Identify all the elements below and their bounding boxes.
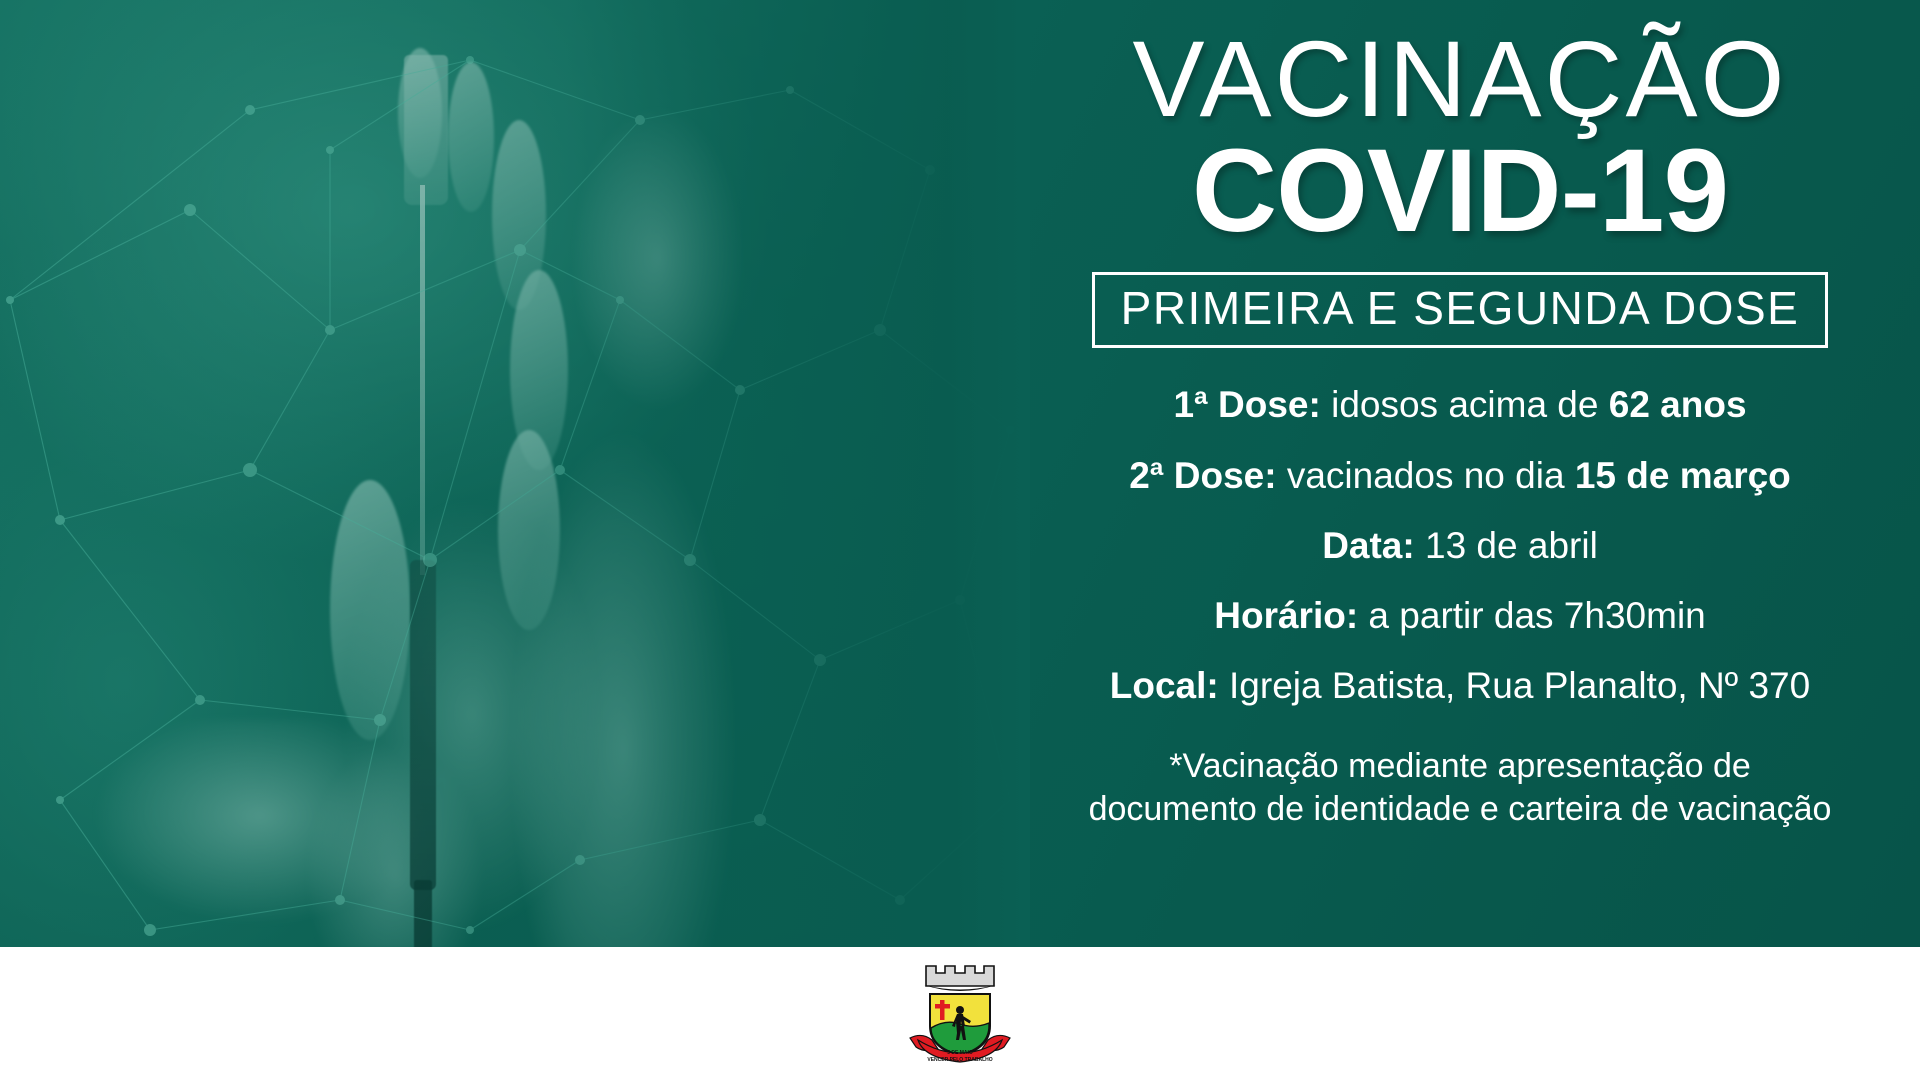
info-text-local: Igreja Batista, Rua Planalto, Nº 370 [1219, 665, 1810, 706]
info-line-dose2: 2ª Dose: vacinados no dia 15 de março [1000, 453, 1920, 498]
footnote-line-2: documento de identidade e carteira de va… [1089, 788, 1832, 831]
page-subtitle: COVID-19 [1192, 132, 1728, 250]
info-label-data: Data: [1322, 525, 1415, 566]
shield-shape [930, 994, 990, 1056]
info-text-horario: a partir das 7h30min [1358, 595, 1706, 636]
info-list: 1ª Dose: idosos acima de 62 anos 2ª Dose… [1000, 382, 1920, 733]
municipal-coat-of-arms-icon: 5 DE MAIO VENCER PELO TRABALHO [896, 954, 1024, 1074]
vaccination-photo [0, 0, 1030, 947]
info-line-data: Data: 13 de abril [1000, 523, 1920, 568]
info-label-dose2: 2ª Dose: [1129, 455, 1276, 496]
crown-shape [924, 966, 996, 991]
poster-root: VACINAÇÃO COVID-19 PRIMEIRA E SEGUNDA DO… [0, 0, 1920, 1080]
crest-date-text: 5 DE MAIO [947, 1050, 973, 1056]
page-title: VACINAÇÃO [1132, 22, 1787, 136]
content-column: VACINAÇÃO COVID-19 PRIMEIRA E SEGUNDA DO… [1000, 0, 1920, 947]
info-label-dose1: 1ª Dose: [1173, 384, 1320, 425]
info-line-horario: Horário: a partir das 7h30min [1000, 593, 1920, 638]
info-text-data: 13 de abril [1415, 525, 1598, 566]
dose-badge: PRIMEIRA E SEGUNDA DOSE [1092, 272, 1829, 348]
photo-green-tint [0, 0, 1030, 947]
info-text-dose2: vacinados no dia [1277, 455, 1575, 496]
crest-motto-text: VENCER PELO TRABALHO [927, 1057, 992, 1063]
info-text-dose1: idosos acima de [1321, 384, 1609, 425]
footnote-line-1: *Vacinação mediante apresentação de [1089, 745, 1832, 788]
info-emphasis-dose2: 15 de março [1575, 455, 1791, 496]
info-emphasis-dose1: 62 anos [1609, 384, 1747, 425]
info-line-local: Local: Igreja Batista, Rua Planalto, Nº … [1000, 663, 1920, 708]
footer-bar: 5 DE MAIO VENCER PELO TRABALHO [0, 947, 1920, 1080]
info-label-local: Local: [1110, 665, 1219, 706]
info-line-dose1: 1ª Dose: idosos acima de 62 anos [1000, 382, 1920, 427]
poster-stage: VACINAÇÃO COVID-19 PRIMEIRA E SEGUNDA DO… [0, 0, 1920, 947]
info-label-horario: Horário: [1214, 595, 1358, 636]
footnote: *Vacinação mediante apresentação de docu… [1089, 745, 1832, 831]
